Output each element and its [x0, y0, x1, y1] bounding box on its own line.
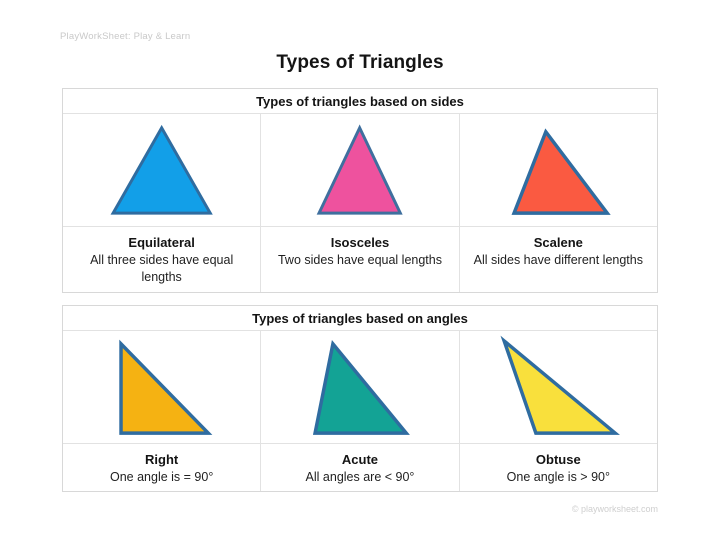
cell-obtuse: Obtuse One angle is > 90°	[460, 331, 657, 491]
isosceles-triangle-svg	[261, 114, 458, 226]
isosceles-label: Isosceles	[271, 234, 448, 251]
acute-caption: Acute All angles are < 90°	[261, 444, 458, 491]
isosceles-shape-area	[261, 114, 458, 227]
right-description: One angle is = 90°	[73, 469, 250, 486]
panel-sides-cells: Equilateral All three sides have equal l…	[63, 114, 657, 292]
obtuse-triangle-svg	[460, 331, 657, 443]
footer-credit: © playworksheet.com	[572, 504, 658, 514]
page-title: Types of Triangles	[0, 52, 720, 74]
cell-scalene: Scalene All sides have different lengths	[460, 114, 657, 292]
panel-sides: Types of triangles based on sides Equila…	[62, 88, 658, 293]
right-shape-area	[63, 331, 260, 444]
panel-sides-header: Types of triangles based on sides	[63, 89, 657, 114]
right-triangle-svg	[63, 331, 260, 443]
obtuse-shape-area	[460, 331, 657, 444]
scalene-triangle-icon	[514, 132, 607, 213]
acute-triangle-icon	[315, 344, 406, 433]
panel-angles-header: Types of triangles based on angles	[63, 306, 657, 331]
equilateral-triangle-svg	[63, 114, 260, 226]
right-triangle-icon	[121, 344, 208, 433]
right-label: Right	[73, 451, 250, 468]
equilateral-caption: Equilateral All three sides have equal l…	[63, 227, 260, 292]
cell-isosceles: Isosceles Two sides have equal lengths	[261, 114, 459, 292]
panel-angles-cells: Right One angle is = 90° Acute All angle…	[63, 331, 657, 491]
equilateral-description: All three sides have equal lengths	[73, 252, 250, 286]
equilateral-label: Equilateral	[73, 234, 250, 251]
equilateral-shape-area	[63, 114, 260, 227]
obtuse-description: One angle is > 90°	[470, 469, 647, 486]
scalene-label: Scalene	[470, 234, 647, 251]
obtuse-caption: Obtuse One angle is > 90°	[460, 444, 657, 491]
obtuse-triangle-icon	[504, 341, 615, 433]
isosceles-caption: Isosceles Two sides have equal lengths	[261, 227, 458, 292]
acute-description: All angles are < 90°	[271, 469, 448, 486]
panel-angles: Types of triangles based on angles Right…	[62, 305, 658, 492]
obtuse-label: Obtuse	[470, 451, 647, 468]
scalene-caption: Scalene All sides have different lengths	[460, 227, 657, 292]
cell-right: Right One angle is = 90°	[63, 331, 261, 491]
acute-shape-area	[261, 331, 458, 444]
isosceles-description: Two sides have equal lengths	[271, 252, 448, 269]
scalene-triangle-svg	[460, 114, 657, 226]
worksheet-page: PlayWorkSheet: Play & Learn Types of Tri…	[0, 0, 720, 556]
scalene-description: All sides have different lengths	[470, 252, 647, 269]
right-caption: Right One angle is = 90°	[63, 444, 260, 491]
acute-label: Acute	[271, 451, 448, 468]
cell-acute: Acute All angles are < 90°	[261, 331, 459, 491]
scalene-shape-area	[460, 114, 657, 227]
equilateral-triangle-icon	[113, 128, 210, 213]
isosceles-triangle-icon	[319, 128, 400, 213]
cell-equilateral: Equilateral All three sides have equal l…	[63, 114, 261, 292]
brand-label: PlayWorkSheet: Play & Learn	[60, 31, 190, 42]
acute-triangle-svg	[261, 331, 458, 443]
